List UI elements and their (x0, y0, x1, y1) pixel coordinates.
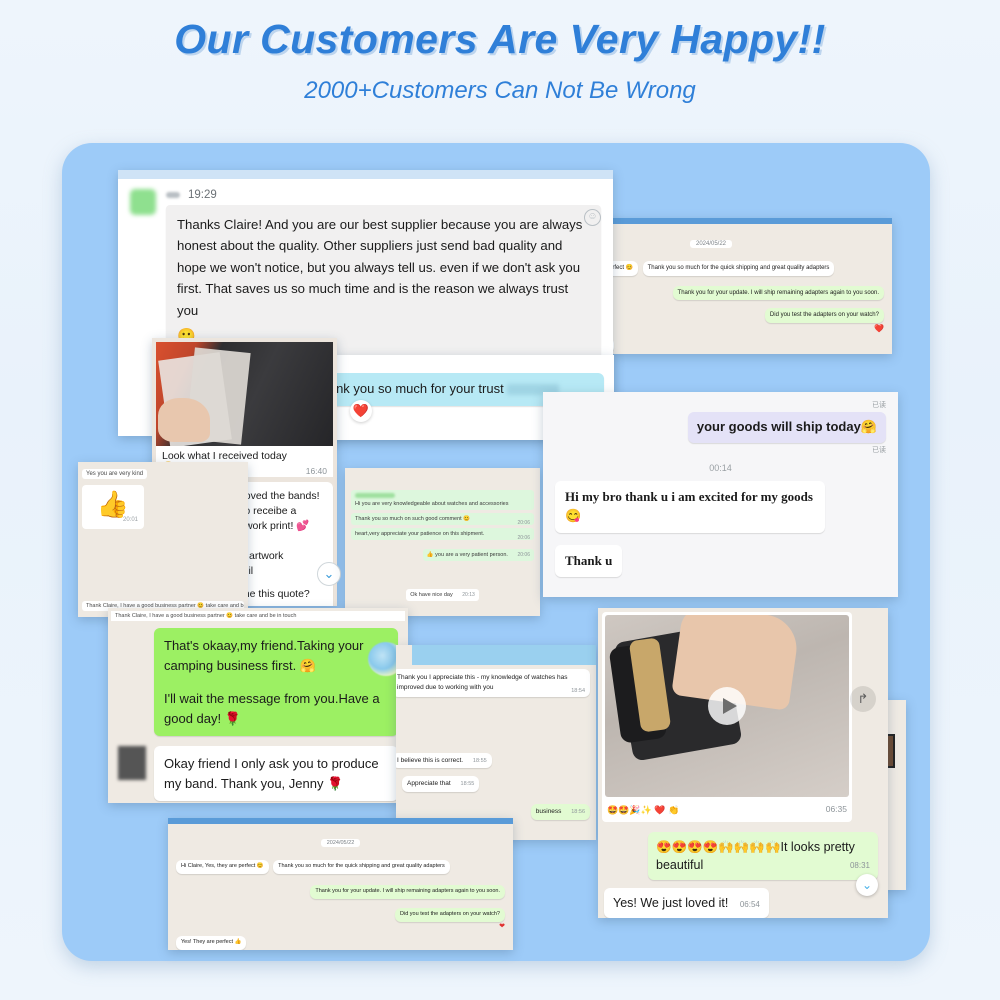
chat-line: Yes you are very kind (82, 469, 147, 479)
chat-line: business (536, 808, 562, 815)
thumbs-up-card[interactable]: Yes you are very kind 👍 20:01 Thank Clai… (78, 462, 248, 617)
camping-out-1: That's okaay,my friend.Taking your campi… (164, 636, 388, 675)
page-subtitle: 2000+Customers Can Not Be Wrong (0, 77, 1000, 105)
yum-emoji: 😋 (565, 508, 581, 523)
heart-reaction-icon: ❤ (176, 922, 505, 930)
scroll-down-icon[interactable]: ⌄ (317, 562, 341, 586)
chat-timestamp: 18:55 (461, 781, 475, 787)
chat-timestamp: 20:06 (517, 552, 530, 558)
chat-timestamp: 20:06 (517, 520, 530, 526)
ship-today-text: your goods will ship today (697, 419, 861, 434)
final-message: Yes! We just loved it! (613, 896, 728, 910)
play-icon[interactable] (708, 687, 746, 725)
chat-line: 👍 you are a very patient person. (427, 552, 508, 558)
adapters-chat-card-bottom[interactable]: 2024/05/22 Hi Claire, Yes, they are perf… (168, 818, 513, 950)
date-chip: 2024/05/22 (321, 839, 361, 847)
avatar (130, 189, 156, 215)
knowledgeable-card[interactable]: Hi you are very knowledgeable about watc… (345, 468, 540, 616)
scroll-down-icon[interactable]: ⌄ (856, 874, 878, 896)
watch-knowledge-card[interactable]: Thank you I appreciate this - my knowled… (396, 645, 596, 840)
chat-line: Thank you for your update. I will ship r… (673, 286, 884, 301)
video-reaction-emojis: 🤩🤩🎉✨ ❤️ 👏 (607, 805, 679, 815)
chat-timestamp: 20:13 (462, 592, 475, 598)
camping-in: Okay friend I only ask you to produce my… (154, 746, 398, 801)
chat-line: Hi Claire, Yes, they are perfect 😊 (176, 860, 269, 874)
chat-line: Thank you so much for the quick shipping… (273, 860, 450, 874)
chat-timestamp: 00:14 (555, 463, 886, 473)
thank-u-text: Thank u (555, 545, 622, 578)
chat-line: Thank you I appreciate this - my knowled… (397, 674, 568, 691)
chat-timestamp: 18:54 (571, 687, 585, 695)
photo-caption: Look what I received today (162, 450, 327, 462)
chat-line: Hi you are very knowledgeable about watc… (355, 501, 530, 507)
read-status: 已读 (555, 400, 886, 410)
excited-text: Hi my bro thank u i am excited for my go… (565, 489, 813, 504)
heart-reaction-icon[interactable]: ❤️ (350, 400, 372, 422)
chat-line: Thank you for your update. I will ship r… (310, 885, 505, 899)
video-review-card[interactable]: 🤩🤩🎉✨ ❤️ 👏 06:35 ↱ 😍😍😍😍🙌🙌🙌🙌It looks prett… (598, 608, 888, 918)
chat-line: Did you test the adapters on your watch? (395, 908, 505, 922)
chat-line: Thank Claire, I have a good business par… (111, 611, 405, 621)
chat-timestamp: 19:29 (188, 189, 217, 201)
chat-line: heart,very appreciate your patience on t… (355, 531, 484, 537)
page-header: Our Customers Are Very Happy!! 2000+Cust… (0, 0, 1000, 105)
thumbs-up-emoji: 👍 (88, 491, 138, 517)
chat-timestamp: 06:35 (826, 804, 847, 814)
date-chip: 2024/05/22 (690, 240, 732, 248)
ship-today-card[interactable]: 已读 your goods will ship today🤗 已读 00:14 … (543, 392, 898, 597)
chat-line: Did you test the adapters on your watch? (765, 308, 884, 323)
testimonial-text: Thanks Claire! And you are our best supp… (177, 217, 582, 318)
chat-line: Ok have nice day (410, 592, 453, 598)
camping-out-2: I'll wait the message from you.Have a go… (164, 689, 388, 728)
chat-timestamp: 06:54 (740, 900, 760, 909)
avatar (118, 746, 146, 780)
smiley-reaction-icon[interactable]: ☺ (584, 209, 601, 226)
sender-name-blurred (166, 192, 180, 198)
forward-icon[interactable]: ↱ (850, 686, 876, 712)
page-title: Our Customers Are Very Happy!! (0, 16, 1000, 63)
chat-line: Yes! They are perfect 👍 (176, 936, 246, 950)
chat-timestamp: 18:56 (571, 809, 585, 815)
chat-timestamp: 16:40 (306, 466, 327, 476)
chat-timestamp: 18:55 (473, 758, 487, 764)
chat-line: Appreciate that (407, 780, 451, 787)
chat-line: I believe this is correct. (397, 757, 463, 764)
chat-timestamp: 20:06 (517, 535, 530, 541)
chat-line: Thank you so much on such good comment 😊 (355, 516, 470, 522)
camping-business-card[interactable]: Thank Claire, I have a good business par… (108, 608, 408, 803)
reply-emojis: 😍😍😍😍🙌🙌🙌🙌 (656, 840, 781, 854)
chat-timestamp: 08:31 (850, 860, 870, 872)
hug-emoji: 🤗 (861, 419, 877, 434)
read-status: 已读 (555, 445, 886, 455)
trust-text: thank you so much for your trust (318, 381, 504, 396)
chat-line: Thank you so much for the quick shipping… (643, 261, 835, 276)
